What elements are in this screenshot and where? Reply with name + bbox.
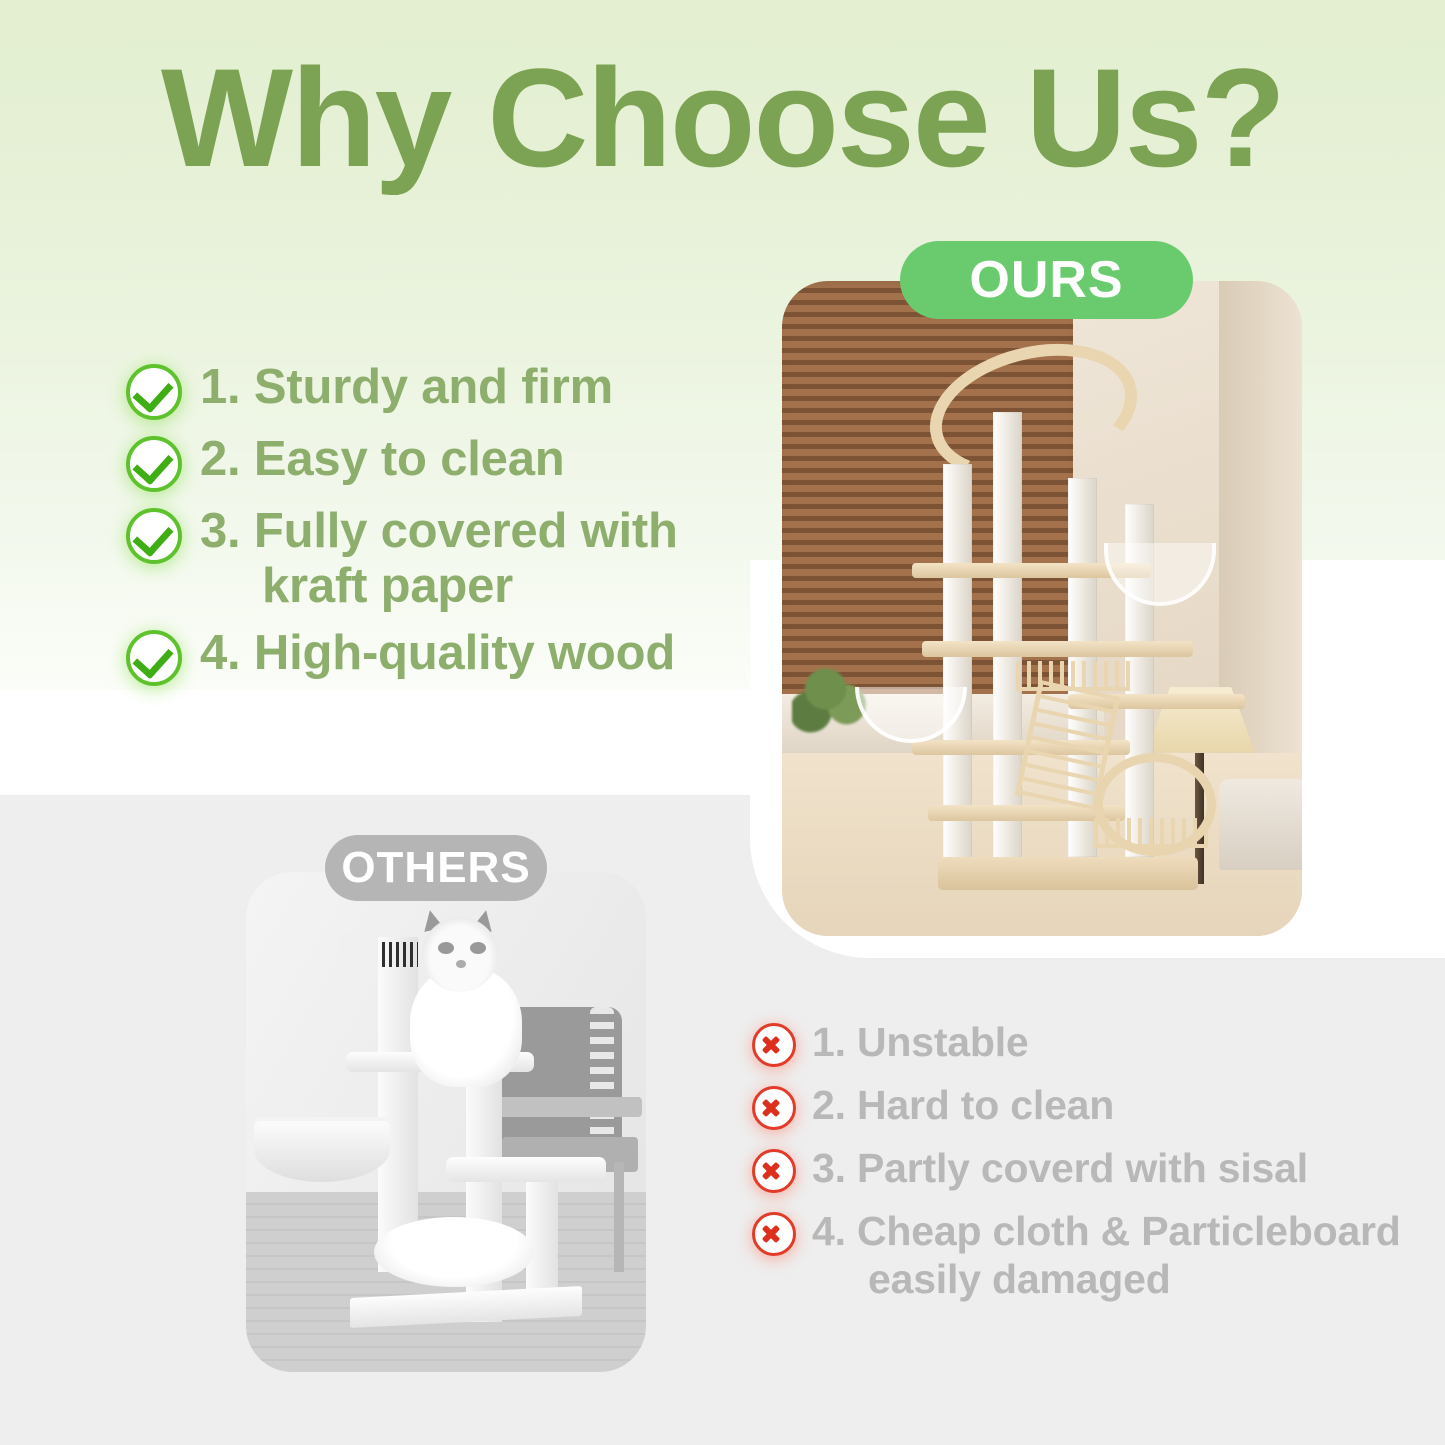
ours-product-photo (782, 281, 1302, 936)
pros-item-label: 1. Sturdy and firm (200, 360, 613, 415)
list-item: 2. Hard to clean (752, 1081, 1442, 1130)
x-circle-icon (752, 1023, 796, 1067)
check-circle-icon (126, 364, 182, 420)
x-circle-icon (752, 1086, 796, 1130)
badge-ours: OURS (900, 241, 1193, 319)
pros-item-line1: 3. Fully covered with (200, 504, 678, 558)
cons-item-line1: 4. Cheap cloth & Particleboard (812, 1208, 1401, 1254)
check-circle-icon (126, 630, 182, 686)
cons-list: 1. Unstable 2. Hard to clean 3. Partly c… (752, 1018, 1442, 1304)
pros-item-label: 2. Easy to clean (200, 432, 565, 487)
list-item: 1. Sturdy and firm (126, 360, 766, 420)
check-circle-icon (126, 436, 182, 492)
pros-item-line2: kraft paper (200, 559, 678, 614)
list-item: 3. Fully covered withkraft paper (126, 504, 766, 614)
check-circle-icon (126, 508, 182, 564)
cons-item-label: 3. Partly coverd with sisal (812, 1144, 1308, 1192)
pros-list: 1. Sturdy and firm 2. Easy to clean 3. F… (126, 360, 766, 686)
page-title: Why Choose Us? (0, 48, 1445, 188)
cons-item-label: 2. Hard to clean (812, 1081, 1114, 1129)
others-photo-scene (246, 872, 646, 1372)
x-circle-icon (752, 1149, 796, 1193)
cons-item-label: 4. Cheap cloth & Particleboardeasily dam… (812, 1207, 1401, 1304)
list-item: 4. High-quality wood (126, 626, 766, 686)
list-item: 2. Easy to clean (126, 432, 766, 492)
why-choose-us-comparison-graphic: Why Choose Us? 1. Sturdy and firm 2. Eas… (0, 0, 1445, 1445)
pros-item-label: 4. High-quality wood (200, 626, 675, 681)
cons-item-line2: easily damaged (812, 1255, 1401, 1303)
others-product-photo (246, 872, 646, 1372)
list-item: 4. Cheap cloth & Particleboardeasily dam… (752, 1207, 1442, 1304)
pros-item-label: 3. Fully covered withkraft paper (200, 504, 678, 614)
list-item: 3. Partly coverd with sisal (752, 1144, 1442, 1193)
x-circle-icon (752, 1212, 796, 1256)
cons-item-label: 1. Unstable (812, 1018, 1029, 1066)
list-item: 1. Unstable (752, 1018, 1442, 1067)
badge-others: OTHERS (325, 835, 547, 901)
ours-photo-scene (782, 281, 1302, 936)
